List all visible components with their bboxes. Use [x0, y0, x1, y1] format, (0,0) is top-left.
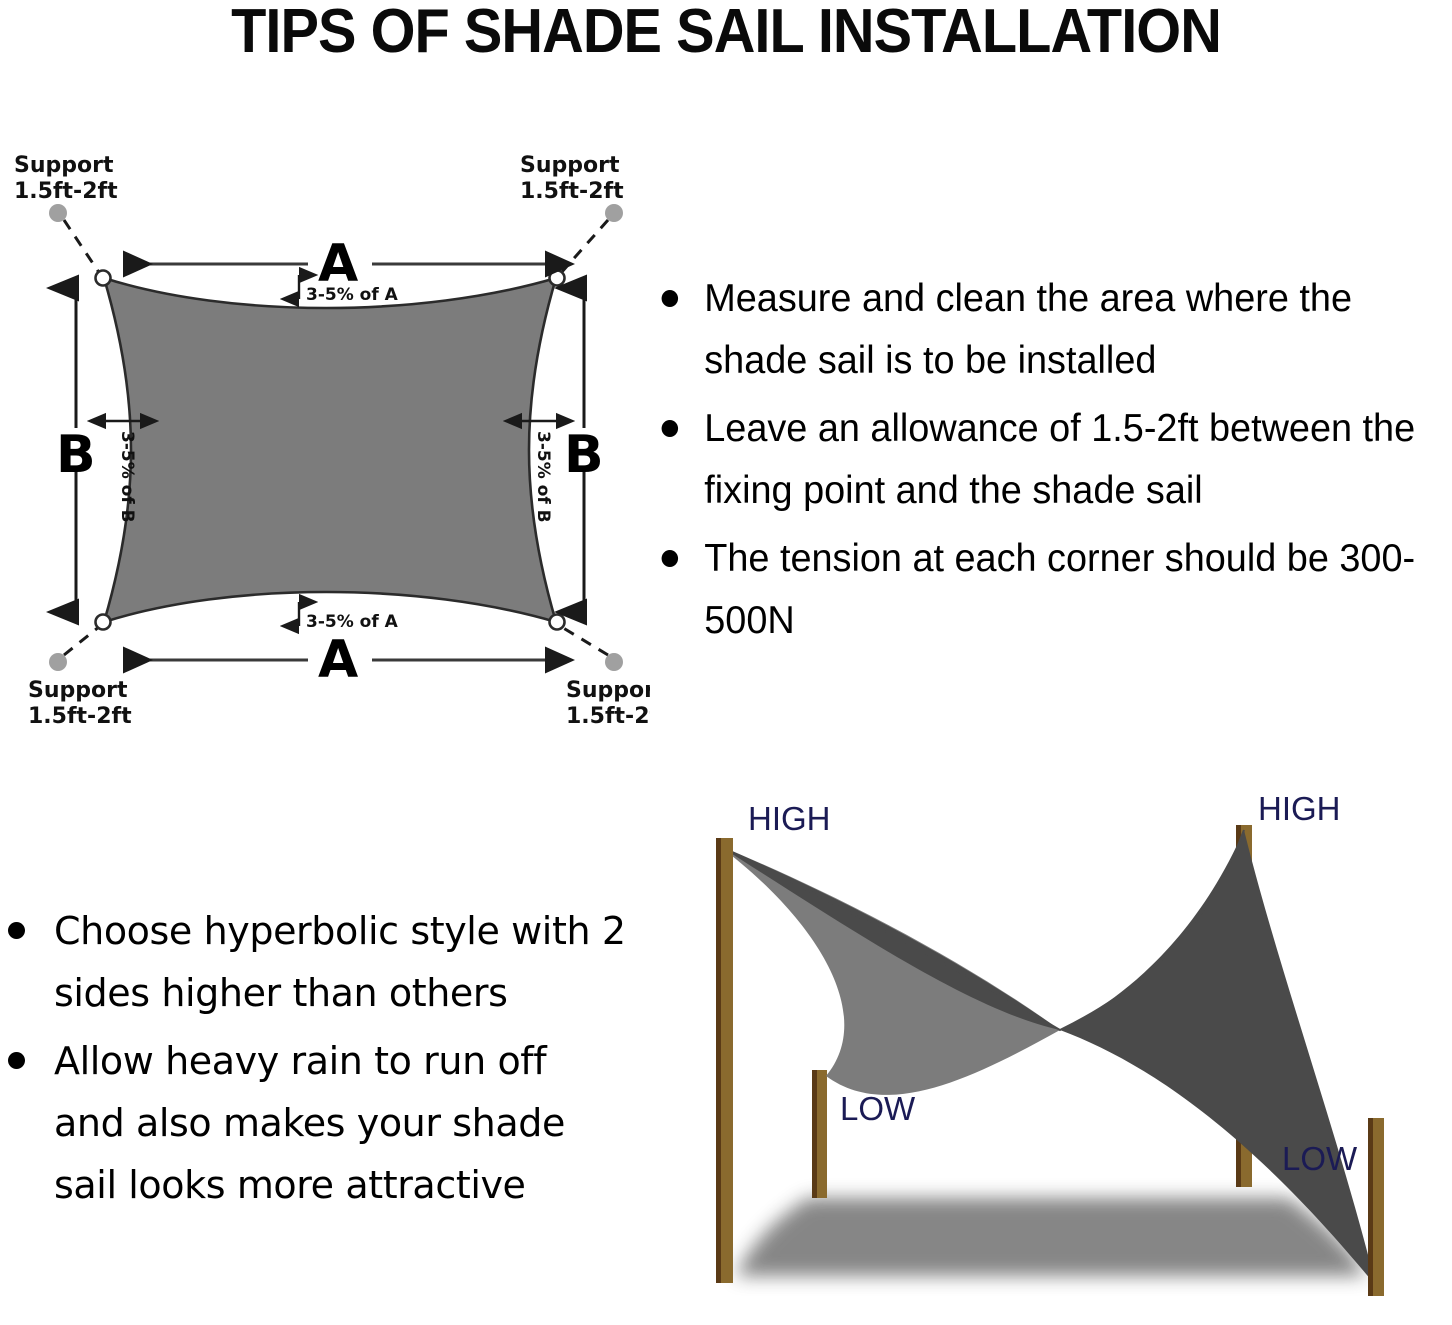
tip-item: The tension at each corner should be 300…	[648, 528, 1428, 652]
tip-item: Choose hyperbolic style with 2 sides hig…	[0, 900, 628, 1024]
curve-depth-label-top: 3-5% of A	[306, 285, 399, 305]
post-high-left	[716, 838, 733, 1283]
support-label-bottom-right: Support 1.5ft-2ft	[566, 678, 650, 729]
grommet-bottom-right	[550, 615, 565, 630]
tether-line-top-left	[64, 220, 100, 274]
grommet-top-left	[96, 271, 111, 286]
post-low-left	[812, 1070, 827, 1198]
support-label-top-right: Support 1.5ft-2ft	[520, 153, 624, 204]
sail-surface-light	[718, 845, 1060, 1095]
anchor-point-top-left	[49, 204, 67, 222]
support-label-top-right-line1: Support	[520, 153, 620, 178]
support-label-top-left-line1: Support	[14, 153, 114, 178]
tether-line-bottom-right	[560, 626, 608, 655]
label-low-left: LOW	[840, 1090, 916, 1127]
hyperbolic-shade-sail-illustration: HIGH HIGH LOW LOW	[640, 780, 1452, 1325]
curve-depth-label-left: 3-5% of B	[117, 431, 137, 523]
support-label-bottom-right-line2: 1.5ft-2ft	[566, 704, 650, 729]
anchor-point-top-right	[605, 204, 623, 222]
tip-item: Allow heavy rain to run off and also mak…	[0, 1030, 628, 1216]
dimension-label-bottom-a: A	[318, 630, 358, 690]
installation-tips-list: Measure and clean the area where the sha…	[648, 268, 1428, 658]
grommet-bottom-left	[96, 615, 111, 630]
page-title: TIPS OF SHADE SAIL INSTALLATION	[51, 0, 1401, 70]
tip-item: Leave an allowance of 1.5-2ft between th…	[648, 398, 1428, 522]
support-label-top-left-line2: 1.5ft-2ft	[14, 179, 118, 204]
tether-line-bottom-left	[64, 626, 100, 655]
label-high-right: HIGH	[1258, 790, 1341, 827]
tip-item: Measure and clean the area where the sha…	[648, 268, 1428, 392]
dimension-label-left-b: B	[56, 425, 96, 485]
support-label-bottom-left: Support 1.5ft-2ft	[28, 678, 132, 729]
dimension-label-right-b: B	[564, 425, 604, 485]
curve-depth-label-bottom: 3-5% of A	[306, 612, 399, 632]
anchor-point-bottom-right	[605, 653, 623, 671]
grommet-top-right	[550, 271, 565, 286]
support-label-bottom-left-line2: 1.5ft-2ft	[28, 704, 132, 729]
support-label-top-right-line2: 1.5ft-2ft	[520, 179, 624, 204]
support-label-top-left: Support 1.5ft-2ft	[14, 153, 118, 204]
anchor-point-bottom-left	[49, 653, 67, 671]
tether-line-top-right	[560, 220, 608, 274]
post-low-right	[1368, 1118, 1384, 1296]
label-low-right: LOW	[1282, 1140, 1358, 1177]
ground-shadow	[736, 1198, 1366, 1276]
support-label-bottom-right-line1: Support	[566, 678, 650, 703]
rectangular-shade-sail-dimension-diagram: Support 1.5ft-2ft Support 1.5ft-2ft Supp…	[0, 150, 650, 750]
infographic-page: TIPS OF SHADE SAIL INSTALLATION	[0, 0, 1452, 1325]
hyperbolic-style-tips-list: Choose hyperbolic style with 2 sides hig…	[0, 900, 628, 1222]
label-high-left: HIGH	[748, 800, 831, 837]
support-label-bottom-left-line1: Support	[28, 678, 128, 703]
shade-sail-fabric	[104, 278, 556, 622]
curve-depth-label-right: 3-5% of B	[533, 431, 553, 523]
